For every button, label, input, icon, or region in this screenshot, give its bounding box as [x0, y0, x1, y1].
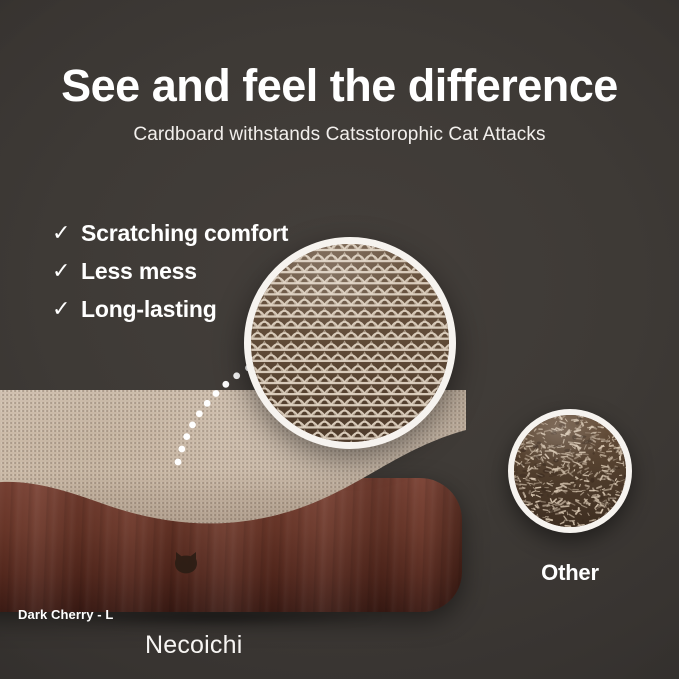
other-comparison-label: Other: [470, 560, 670, 586]
feature-item-2: ✓ Long-lasting: [52, 294, 288, 324]
cat-head-logo: [173, 550, 199, 574]
other-brand-cardboard-closeup: [508, 409, 632, 533]
page-title: See and feel the difference: [0, 62, 679, 109]
product-comparison-graphic: See and feel the difference Cardboard wi…: [0, 0, 679, 679]
feature-item-1: ✓ Less mess: [52, 256, 288, 286]
feature-label: Scratching comfort: [81, 220, 288, 247]
feature-label: Long-lasting: [81, 296, 217, 323]
check-icon: ✓: [52, 260, 70, 282]
feature-list: ✓ Scratching comfort ✓ Less mess ✓ Long-…: [52, 218, 288, 324]
product-variant-label: Dark Cherry - L: [18, 607, 113, 622]
page-subtitle: Cardboard withstands Catsstorophic Cat A…: [0, 124, 679, 146]
frayed-fiber-pattern: [514, 415, 626, 527]
check-icon: ✓: [52, 298, 70, 320]
brand-name-label: Necoichi: [145, 631, 242, 660]
feature-item-0: ✓ Scratching comfort: [52, 218, 288, 248]
feature-label: Less mess: [81, 258, 197, 285]
check-icon: ✓: [52, 222, 70, 244]
